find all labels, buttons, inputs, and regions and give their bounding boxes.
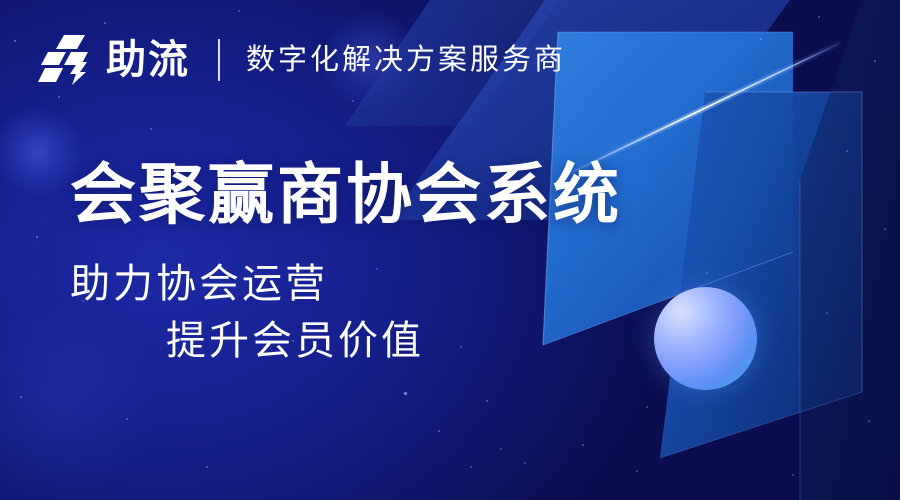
hero-subtitle-line-2: 提升会员价值 [70,313,770,370]
hero-title: 会聚赢商协会系统 [70,160,770,230]
hero-subtitle: 助力协会运营 提升会员价值 [70,256,770,370]
brand-name: 助流 [106,40,190,80]
hero-subtitle-line-1: 助力协会运营 [70,262,328,306]
header-divider [218,39,220,81]
brand-tagline: 数字化解决方案服务商 [246,46,566,75]
hero-block: 会聚赢商协会系统 助力协会运营 提升会员价值 [70,160,770,370]
zhuliu-flow-mark-icon [38,32,94,88]
brand-header: 助流 数字化解决方案服务商 [38,28,566,92]
promo-banner: 助流 数字化解决方案服务商 会聚赢商协会系统 助力协会运营 提升会员价值 [0,0,900,500]
